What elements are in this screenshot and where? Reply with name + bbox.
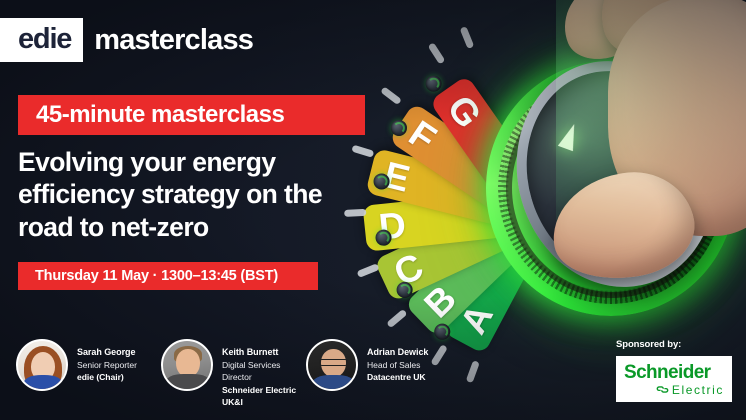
edie-logo-box: edie	[0, 18, 83, 62]
schneider-sub-row: Electric	[656, 383, 724, 396]
avatar	[306, 339, 358, 391]
schneider-link-icon	[656, 383, 669, 396]
speaker-name: Adrian Dewick	[367, 346, 428, 359]
energy-rating-letter: F	[403, 114, 442, 157]
duration-banner-text: 45-minute masterclass	[36, 101, 284, 129]
dial-screw-icon	[397, 282, 413, 298]
speaker-list: Sarah GeorgeSenior Reporteredie (Chair)K…	[16, 339, 451, 408]
knob-pointer-arrow-icon	[557, 121, 581, 151]
dial-tick	[380, 86, 402, 105]
page-title: Evolving your energy efficiency strategy…	[18, 146, 378, 243]
speaker-name: Sarah George	[77, 346, 137, 359]
speaker-card: Keith BurnettDigital Services DirectorSc…	[161, 339, 306, 408]
speaker-org: Schneider Electric UK&I	[222, 384, 306, 408]
avatar	[16, 339, 68, 391]
electric-wordmark: Electric	[672, 384, 724, 396]
dial-screw-icon	[426, 76, 442, 92]
dial-screw-icon	[391, 120, 407, 136]
masterclass-promo-banner: ABCDEFG edie masterclass 45-minute maste…	[0, 0, 746, 420]
edie-logo-text: edie	[18, 25, 71, 54]
sponsor-label: Sponsored by:	[616, 339, 732, 350]
speaker-role: Senior Reporter	[77, 359, 137, 371]
speaker-details: Keith BurnettDigital Services DirectorSc…	[222, 339, 306, 408]
speaker-role: Digital Services Director	[222, 359, 306, 383]
schneider-wordmark: Schneider	[624, 363, 710, 382]
dial-screw-icon	[434, 324, 450, 340]
date-time-banner: Thursday 11 May · 1300–13:45 (BST)	[18, 262, 318, 290]
avatar-glasses	[319, 359, 348, 366]
dial-tick	[466, 360, 480, 383]
speaker-details: Adrian DewickHead of SalesDatacentre UK	[367, 339, 428, 383]
avatar-shirt	[166, 374, 210, 391]
speaker-card: Adrian DewickHead of SalesDatacentre UK	[306, 339, 451, 391]
dial-tick	[428, 42, 446, 64]
avatar	[161, 339, 213, 391]
speaker-name: Keith Burnett	[222, 346, 306, 359]
masterclass-label: masterclass	[94, 26, 253, 55]
avatar-shirt	[24, 375, 62, 391]
avatar-shirt	[313, 375, 354, 391]
speaker-role: Head of Sales	[367, 359, 428, 371]
dial-tick	[460, 26, 475, 49]
dial-tick	[386, 309, 407, 329]
duration-banner: 45-minute masterclass	[18, 95, 365, 135]
avatar-skin	[176, 349, 200, 377]
date-time-text: Thursday 11 May · 1300–13:45 (BST)	[35, 268, 278, 284]
schneider-electric-logo: Schneider Electric	[616, 356, 732, 402]
speaker-org: Datacentre UK	[367, 371, 428, 383]
sponsor-block: Sponsored by: Schneider Electric	[616, 339, 732, 402]
dial-tick	[357, 263, 380, 278]
speaker-details: Sarah GeorgeSenior Reporteredie (Chair)	[77, 339, 137, 383]
speaker-card: Sarah GeorgeSenior Reporteredie (Chair)	[16, 339, 161, 391]
speaker-org: edie (Chair)	[77, 371, 137, 383]
brand-logo-row: edie masterclass	[0, 18, 253, 62]
